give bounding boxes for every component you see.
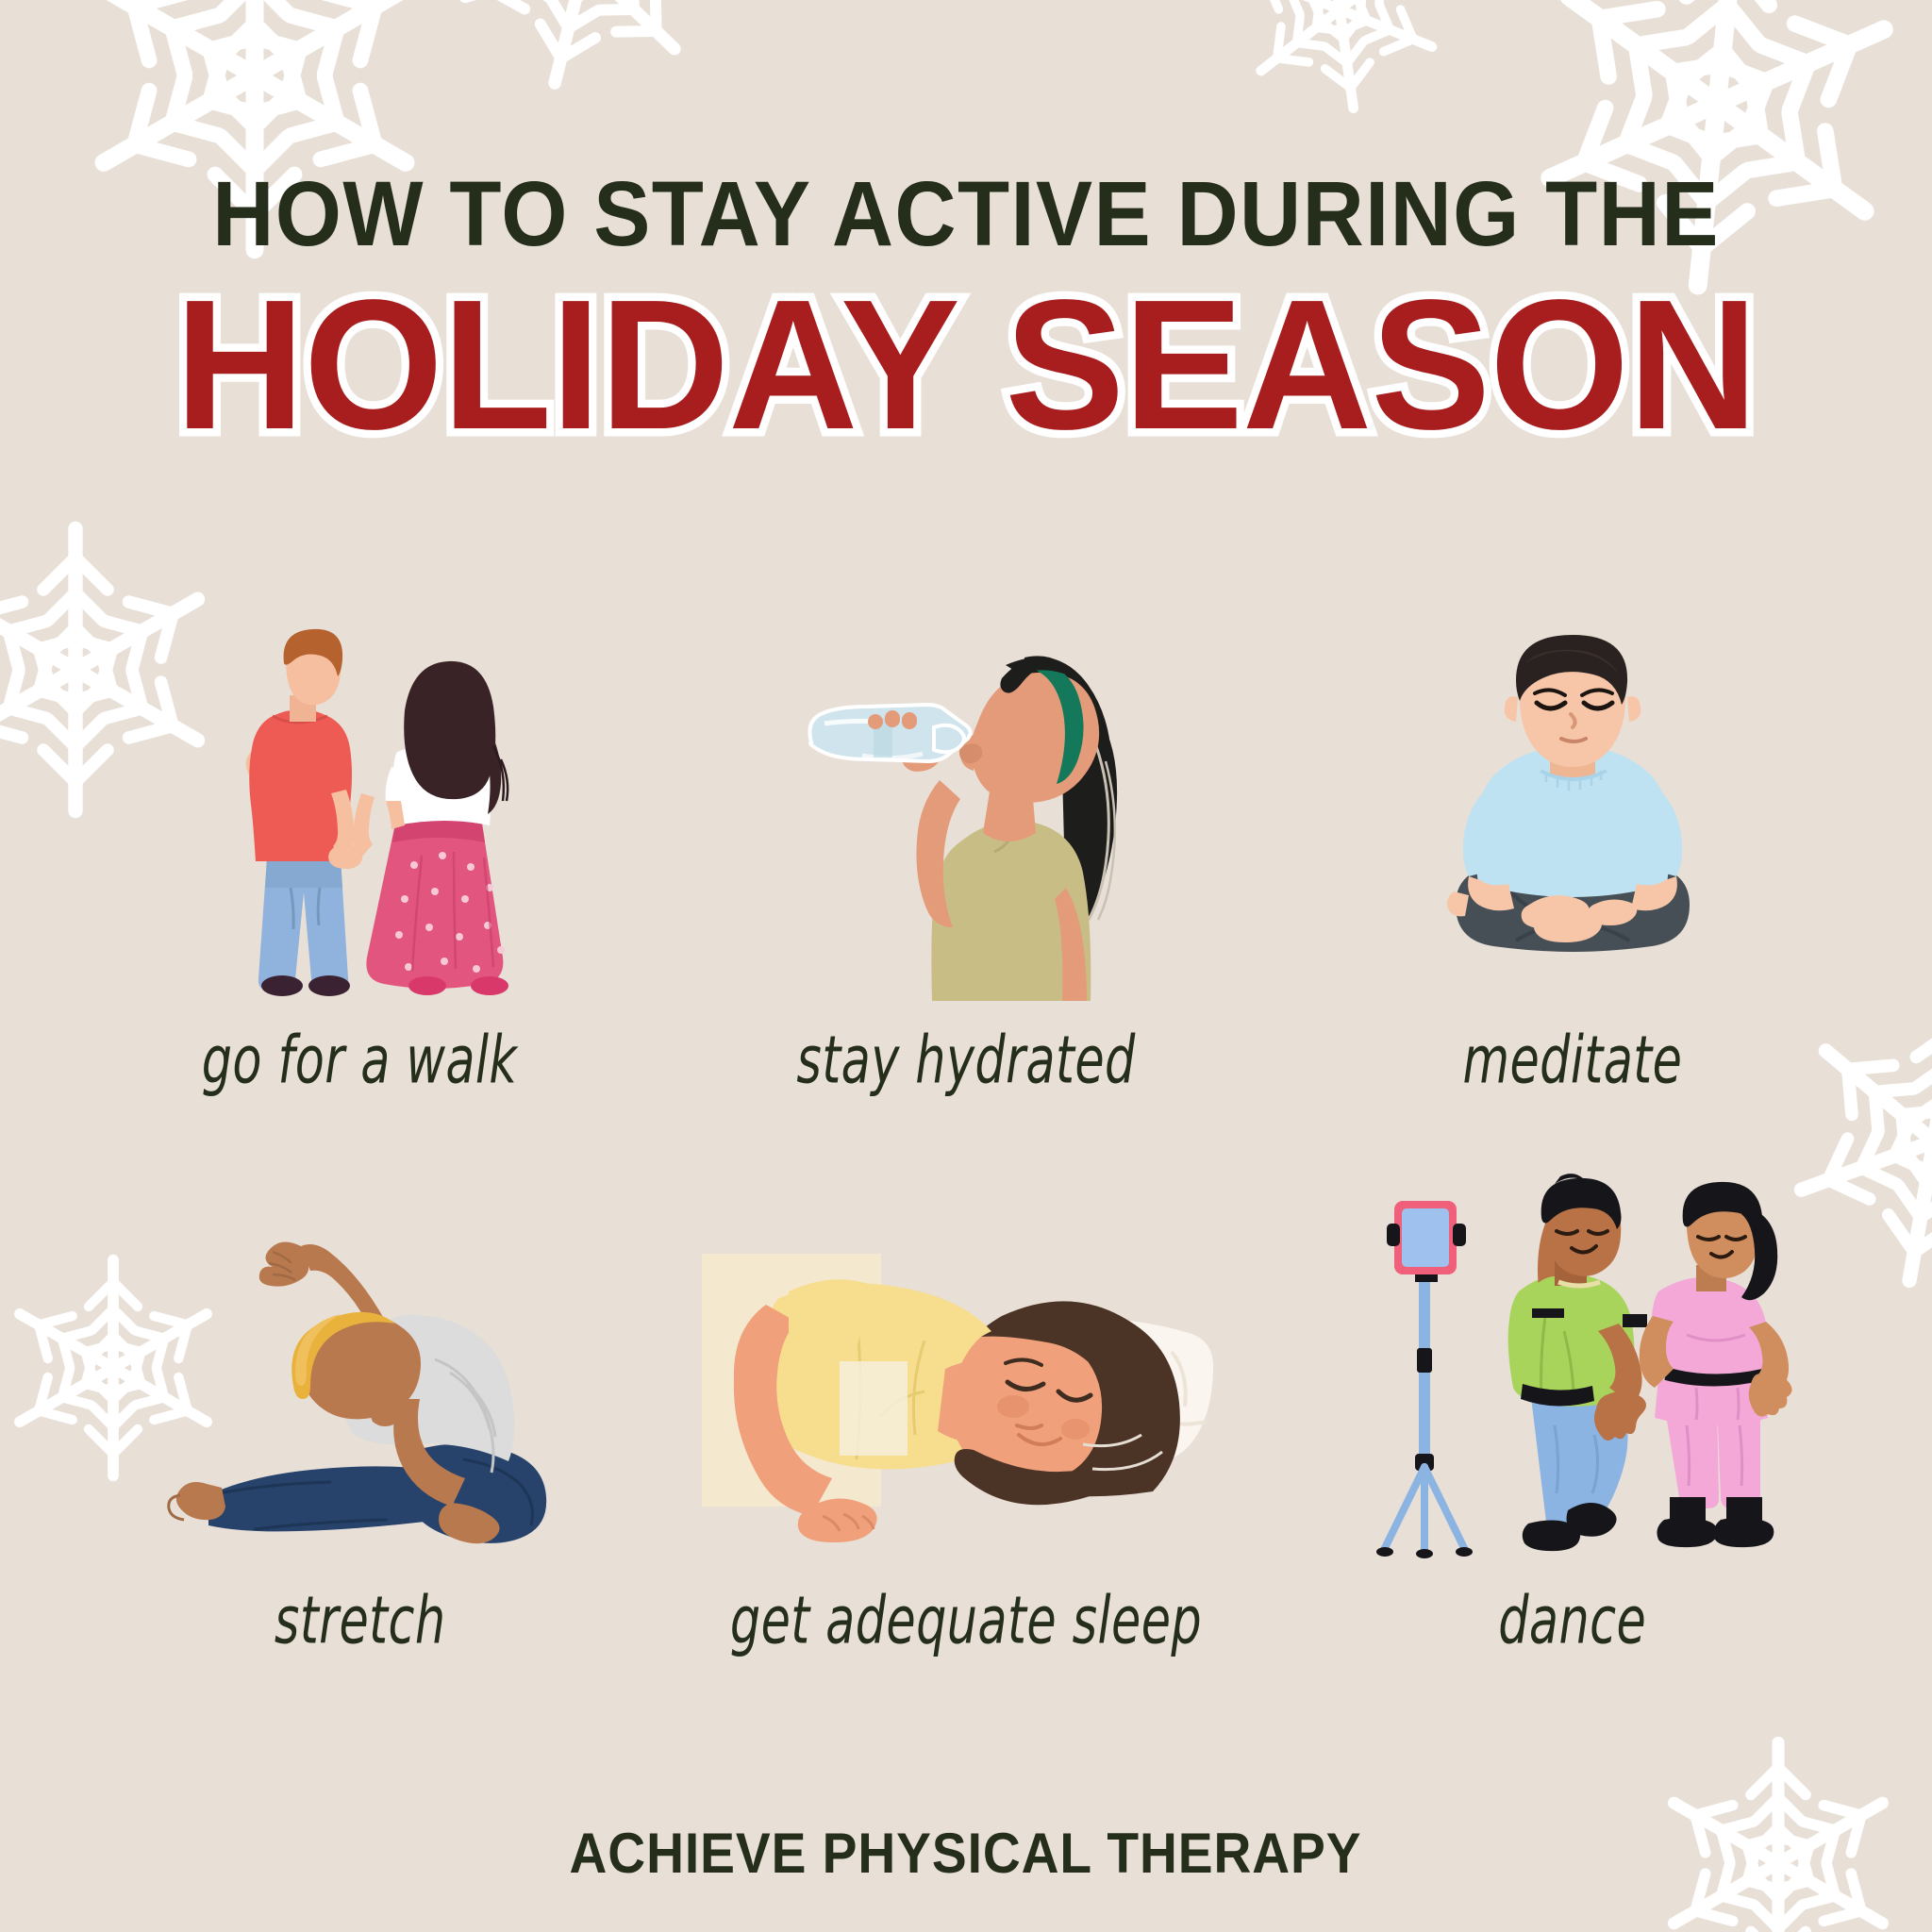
tip-label-dance: dance bbox=[1498, 1582, 1646, 1659]
tip-label-meditate: meditate bbox=[1462, 1022, 1682, 1099]
headline-title: HOLIDAY SEASON bbox=[29, 273, 1904, 458]
woman-drinking-water-icon bbox=[663, 605, 1270, 1001]
brand-name: ACHIEVE PHYSICAL THERAPY bbox=[570, 1821, 1362, 1886]
couple-walking-holding-hands-icon bbox=[57, 605, 663, 1001]
tip-card-meditate: meditate bbox=[1269, 566, 1875, 1094]
headline-block: HOW TO STAY ACTIVE DURING THE HOLIDAY SE… bbox=[0, 168, 1932, 458]
tip-card-sleep: get adequate sleep bbox=[663, 1126, 1270, 1655]
man-meditating-icon bbox=[1269, 605, 1875, 1001]
snowflake-top-center-icon bbox=[413, 0, 757, 134]
tip-card-dance: dance bbox=[1269, 1126, 1875, 1655]
tip-card-hydrate: stay hydrated bbox=[663, 566, 1270, 1094]
snowflake-top-right-small-icon bbox=[1211, 0, 1467, 138]
dancing-with-tripod-icon bbox=[1269, 1165, 1875, 1561]
tip-label-sleep: get adequate sleep bbox=[730, 1582, 1202, 1659]
tip-card-stretch: stretch bbox=[57, 1126, 663, 1655]
tips-grid: go for a walk bbox=[57, 566, 1875, 1655]
tip-label-walk: go for a walk bbox=[202, 1022, 518, 1099]
tip-card-walk: go for a walk bbox=[57, 566, 663, 1094]
poster-canvas: HOW TO STAY ACTIVE DURING THE HOLIDAY SE… bbox=[0, 0, 1932, 1932]
headline-kicker: HOW TO STAY ACTIVE DURING THE bbox=[68, 168, 1865, 259]
tip-label-stretch: stretch bbox=[275, 1582, 446, 1659]
footer: ACHIEVE PHYSICAL THERAPY bbox=[0, 1821, 1932, 1886]
person-stretching-icon bbox=[57, 1165, 663, 1561]
tip-label-hydrate: stay hydrated bbox=[796, 1022, 1135, 1099]
woman-sleeping-icon bbox=[663, 1165, 1270, 1561]
